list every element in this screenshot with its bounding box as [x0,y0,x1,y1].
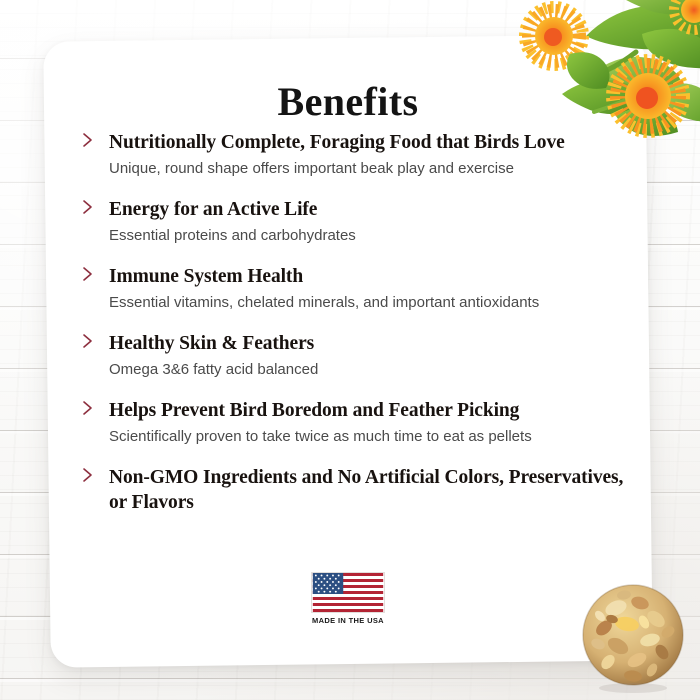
list-item: Helps Prevent Bird Boredom and Feather P… [81,398,625,447]
benefit-subtext: Essential proteins and carbohydrates [109,226,625,246]
benefit-subtext: Essential vitamins, chelated minerals, a… [109,293,625,313]
chevron-right-icon [81,199,95,215]
usa-flag-icon [311,572,385,613]
made-in-usa-badge: MADE IN THE USA [308,572,388,625]
list-item: Healthy Skin & Feathers Omega 3&6 fatty … [81,331,625,380]
benefits-list: Nutritionally Complete, Foraging Food th… [81,130,625,525]
benefit-heading: Healthy Skin & Feathers [109,331,625,356]
benefit-heading: Non-GMO Ingredients and No Artificial Co… [109,465,625,515]
chevron-right-icon [81,266,95,282]
chevron-right-icon [81,467,95,483]
benefit-heading: Helps Prevent Bird Boredom and Feather P… [109,398,625,423]
list-item: Energy for an Active Life Essential prot… [81,197,625,246]
made-in-usa-label: MADE IN THE USA [308,616,388,625]
list-item: Immune System Health Essential vitamins,… [81,264,625,313]
benefit-subtext: Scientifically proven to take twice as m… [109,427,625,447]
safflower-flowers-decoration [466,0,700,166]
chevron-right-icon [81,333,95,349]
chevron-right-icon [81,400,95,416]
chevron-right-icon [81,132,95,148]
benefit-subtext: Omega 3&6 fatty acid balanced [109,360,625,380]
benefit-heading: Immune System Health [109,264,625,289]
benefit-heading: Energy for an Active Life [109,197,625,222]
list-item: Non-GMO Ingredients and No Artificial Co… [81,465,625,515]
product-benefits-image: Benefits Nutritionally Complete, Foragin… [0,0,700,700]
foraging-food-ball-image [574,576,692,694]
